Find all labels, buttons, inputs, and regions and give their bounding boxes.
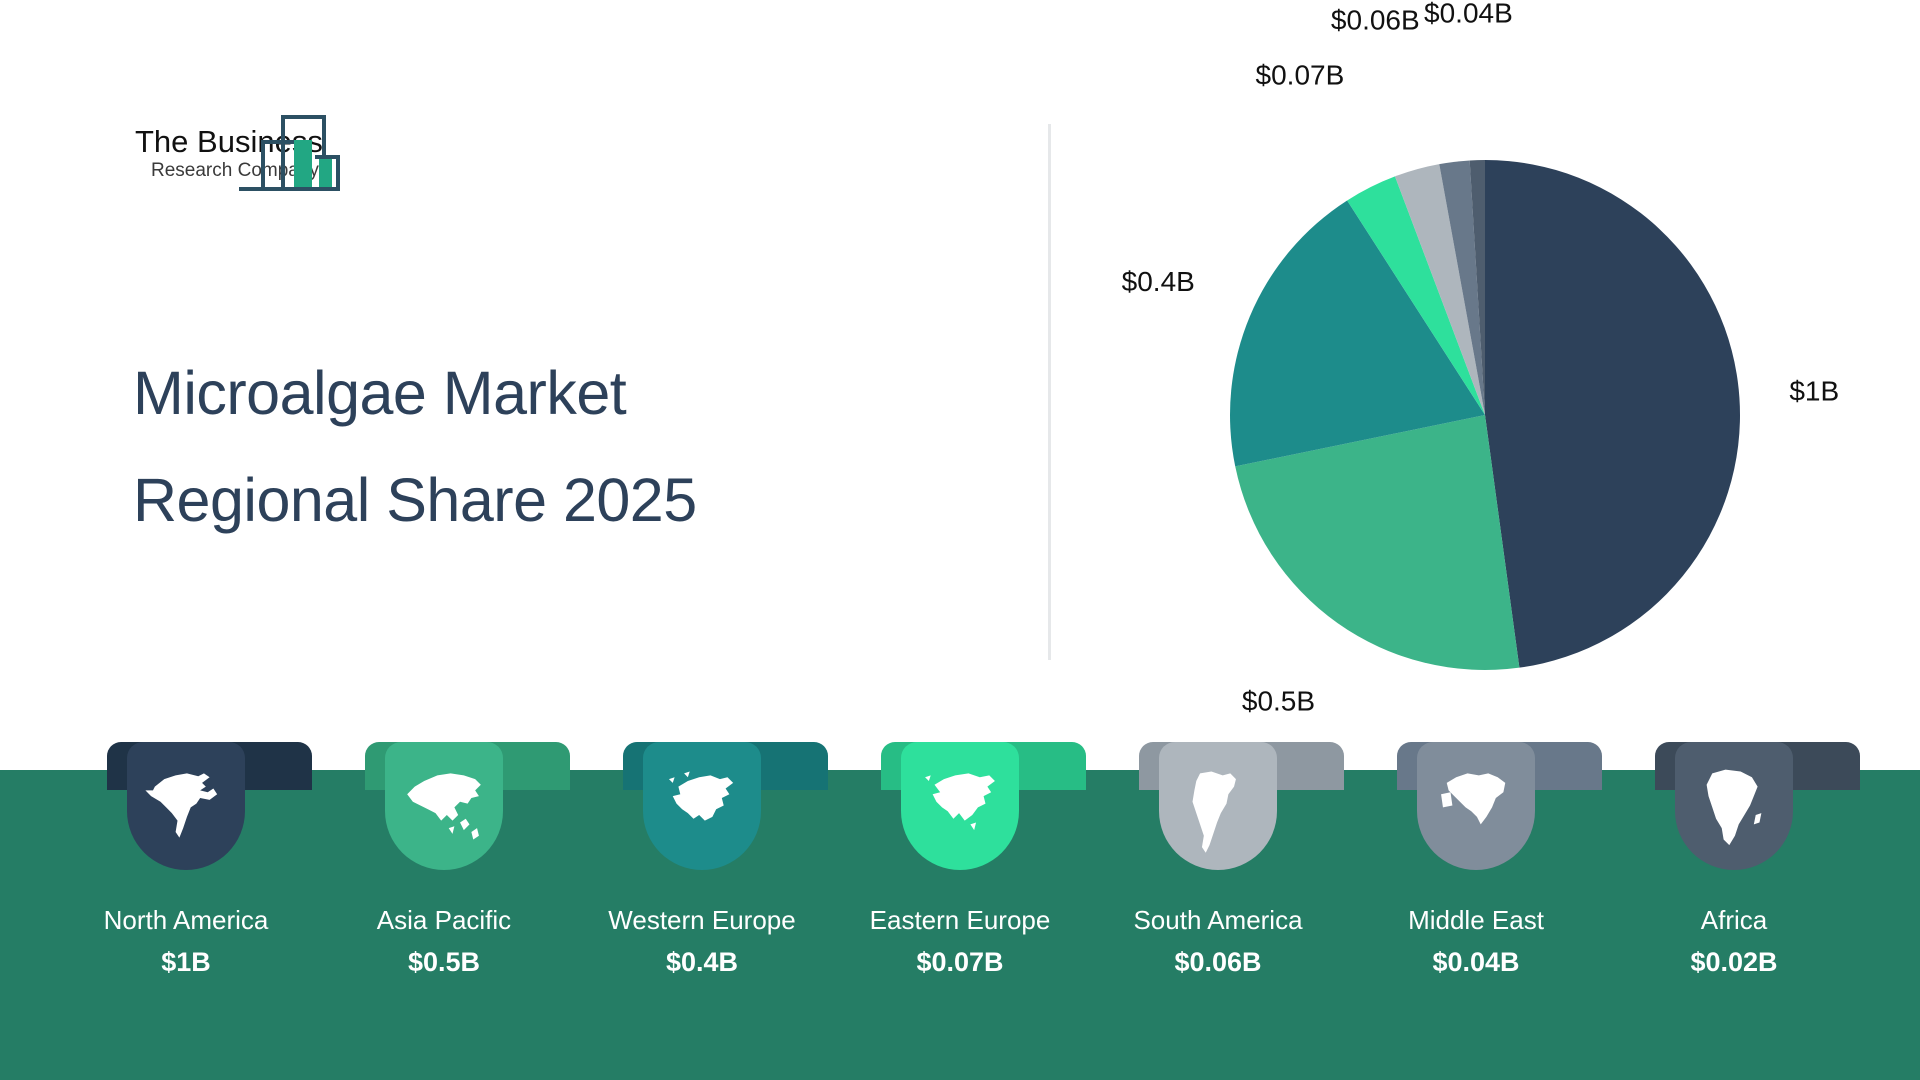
asia-pacific-map-icon: [385, 742, 503, 870]
region-card-middle-east[interactable]: Middle East$0.04B: [1370, 742, 1628, 1080]
region-name: North America: [80, 904, 292, 936]
pie-chart: $1B$0.5B$0.4B$0.07B$0.06B$0.04B: [1070, 78, 1910, 678]
western-europe-map-icon-path: [669, 772, 733, 821]
pie-label-north-america: $1B: [1789, 376, 1839, 407]
vertical-divider: [1048, 124, 1051, 660]
region-badge-zone: [1628, 742, 1886, 878]
africa-map-icon: [1675, 742, 1793, 870]
western-europe-map-icon: [643, 742, 761, 870]
region-card-list: North America$1BAsia Pacific$0.5BWestern…: [0, 742, 1920, 1080]
page-title: Microalgae Market Regional Share 2025: [133, 340, 893, 554]
pie-slices: [1230, 160, 1740, 670]
region-value: $0.5B: [338, 946, 550, 978]
middle-east-map-icon: [1417, 742, 1535, 870]
region-card-asia-pacific[interactable]: Asia Pacific$0.5B: [338, 742, 596, 1080]
company-logo: The Business Research Company: [133, 104, 433, 204]
north-america-map-icon: [127, 742, 245, 870]
region-card-south-america[interactable]: South America$0.06B: [1112, 742, 1370, 1080]
region-badge[interactable]: [1159, 742, 1277, 870]
eastern-europe-map-icon: [901, 742, 1019, 870]
region-badge-zone: [338, 742, 596, 878]
region-name: Africa: [1628, 904, 1840, 936]
region-badge-zone: [854, 742, 1112, 878]
region-value: $1B: [80, 946, 292, 978]
region-badge-zone: [1370, 742, 1628, 878]
region-value: $0.02B: [1628, 946, 1840, 978]
region-badge[interactable]: [643, 742, 761, 870]
africa-map-icon-path: [1707, 770, 1762, 846]
region-card-eastern-europe[interactable]: Eastern Europe$0.07B: [854, 742, 1112, 1080]
region-badge-zone: [80, 742, 338, 878]
pie-chart-svg: $1B$0.5B$0.4B$0.07B$0.06B$0.04B: [1070, 78, 1910, 678]
region-card-western-europe[interactable]: Western Europe$0.4B: [596, 742, 854, 1080]
pie-slice-north-america: [1485, 160, 1740, 668]
region-badge[interactable]: [1675, 742, 1793, 870]
middle-east-map-icon-path: [1441, 773, 1505, 824]
asia-pacific-map-icon-path: [407, 773, 481, 839]
title-line-1: Microalgae Market: [133, 340, 893, 447]
region-badge-zone: [1112, 742, 1370, 878]
region-badge[interactable]: [901, 742, 1019, 870]
region-name: Asia Pacific: [338, 904, 550, 936]
region-value: $0.06B: [1112, 946, 1324, 978]
pie-label-eastern-europe: $0.07B: [1256, 60, 1345, 91]
pie-label-asia-pacific: $0.5B: [1242, 685, 1315, 716]
region-value: $0.4B: [596, 946, 808, 978]
region-card-north-america[interactable]: North America$1B: [80, 742, 338, 1080]
region-value: $0.07B: [854, 946, 1066, 978]
region-card-africa[interactable]: Africa$0.02B: [1628, 742, 1886, 1080]
north-america-map-icon-path: [145, 773, 217, 837]
region-name: Middle East: [1370, 904, 1582, 936]
region-name: Eastern Europe: [854, 904, 1066, 936]
region-badge-zone: [596, 742, 854, 878]
region-name: South America: [1112, 904, 1324, 936]
south-america-map-icon: [1159, 742, 1277, 870]
eastern-europe-map-icon-path: [925, 773, 995, 830]
south-america-map-icon-path: [1193, 772, 1236, 853]
region-badge[interactable]: [127, 742, 245, 870]
bar-chart-logo-icon: The Business Research Company: [133, 104, 433, 204]
pie-label-western-europe: $0.4B: [1122, 266, 1195, 297]
pie-label-south-america: $0.06B: [1331, 5, 1420, 36]
title-line-2: Regional Share 2025: [133, 447, 893, 554]
region-value: $0.04B: [1370, 946, 1582, 978]
region-badge[interactable]: [385, 742, 503, 870]
region-name: Western Europe: [596, 904, 808, 936]
pie-label-middle-east: $0.04B: [1424, 0, 1513, 29]
region-badge[interactable]: [1417, 742, 1535, 870]
